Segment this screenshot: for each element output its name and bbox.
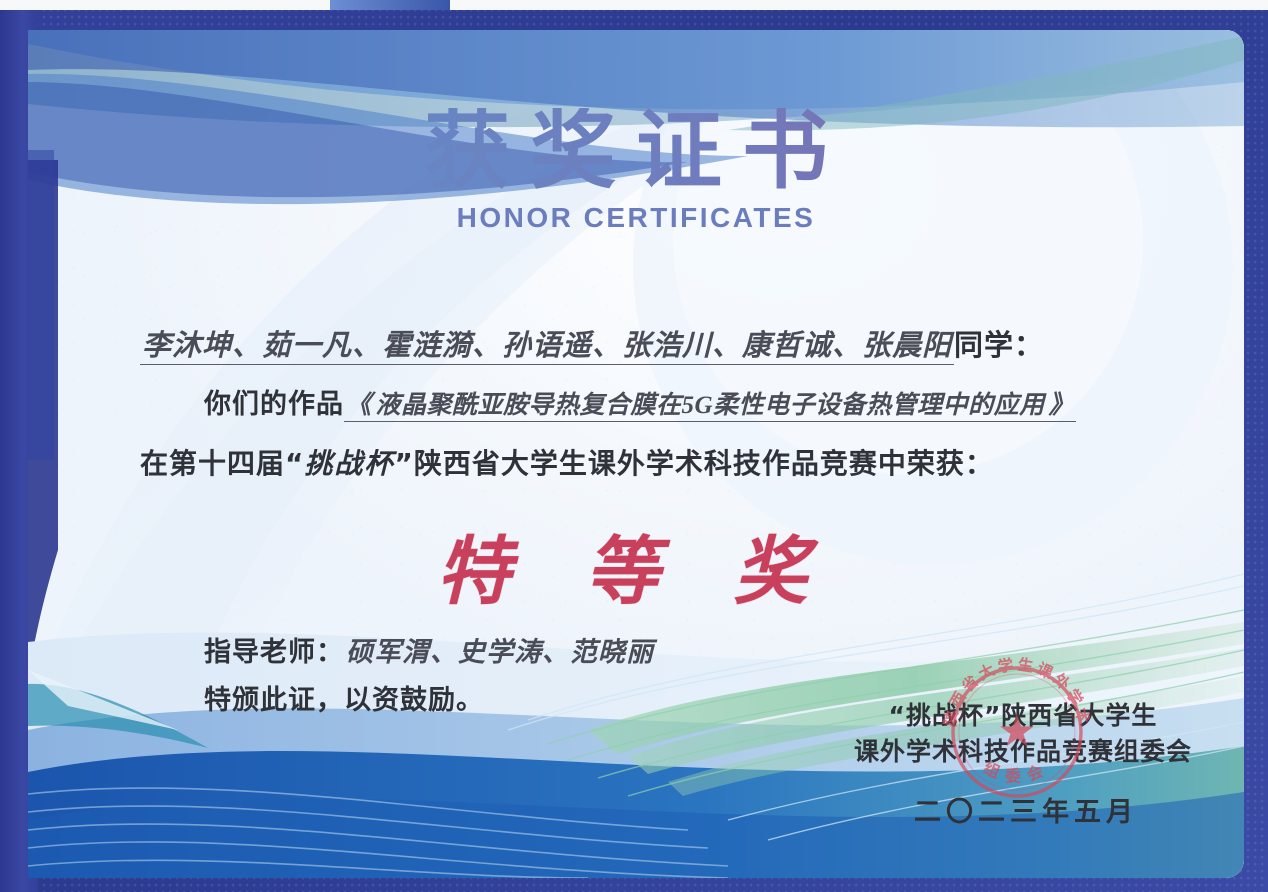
advisors-line: 指导老师：硕军渭、史学涛、范晓丽 [204, 630, 656, 669]
certificate-paper: 获奖证书 HONOR CERTIFICATES 李沐坤、茹一凡、霍涟漪、孙语遥、… [28, 30, 1244, 878]
page-title: 获奖证书 [28, 108, 1244, 196]
title-block: 获奖证书 HONOR CERTIFICATES [28, 108, 1244, 234]
page-subtitle: HONOR CERTIFICATES [28, 202, 1244, 234]
certificate-page: 获奖证书 HONOR CERTIFICATES 李沐坤、茹一凡、霍涟漪、孙语遥、… [0, 0, 1268, 892]
issue-statement-text: 特颁此证，以资鼓励。 [204, 685, 484, 716]
seal-star-icon: ★ [997, 707, 1036, 756]
issue-statement: 特颁此证，以资鼓励。 [204, 678, 484, 717]
recipient-names: 李沐坤、茹一凡、霍涟漪、孙语遥、张浩川、康哲诚、张晨阳 [140, 330, 954, 365]
recipients-suffix: 同学： [954, 328, 1044, 362]
work-line: 你们的作品《液晶聚酰亚胺导热复合膜在5G柔性电子设备热管理中的应用》 [204, 382, 1076, 421]
scan-edge-top [0, 0, 1268, 10]
quote-close: ” [394, 447, 413, 480]
advisor-names: 硕军渭、史学涛、范晓丽 [344, 637, 656, 669]
competition-line: 在第十四届“挑战杯”陕西省大学生课外学术科技作品竞赛中荣获： [140, 442, 994, 482]
work-open-bracket: 《 [344, 392, 374, 422]
competition-suffix: 陕西省大学生课外学术科技作品竞赛中荣获： [414, 447, 994, 480]
competition-prefix: 在第十四届 [140, 447, 285, 480]
cup-name: 挑战杯 [304, 449, 394, 480]
seal-bottom-text: 组委会 [981, 758, 1053, 785]
seal-graphic: 陕西省大学生课外学术 组委会 ★ [933, 648, 1101, 816]
award-level: 特 等 奖 [28, 512, 1244, 619]
work-prefix: 你们的作品 [204, 389, 344, 420]
svg-text:组委会: 组委会 [981, 758, 1053, 785]
work-close-bracket: 》 [1047, 392, 1077, 422]
advisors-label: 指导老师： [204, 637, 344, 668]
scan-edge-accent [330, 0, 450, 10]
work-title: 液晶聚酰亚胺导热复合膜在5G柔性电子设备热管理中的应用 [374, 392, 1047, 422]
official-seal: 陕西省大学生课外学术 组委会 ★ [933, 648, 1101, 816]
recipients-line: 李沐坤、茹一凡、霍涟漪、孙语遥、张浩川、康哲诚、张晨阳同学： [140, 322, 1044, 364]
quote-open: “ [285, 447, 304, 480]
